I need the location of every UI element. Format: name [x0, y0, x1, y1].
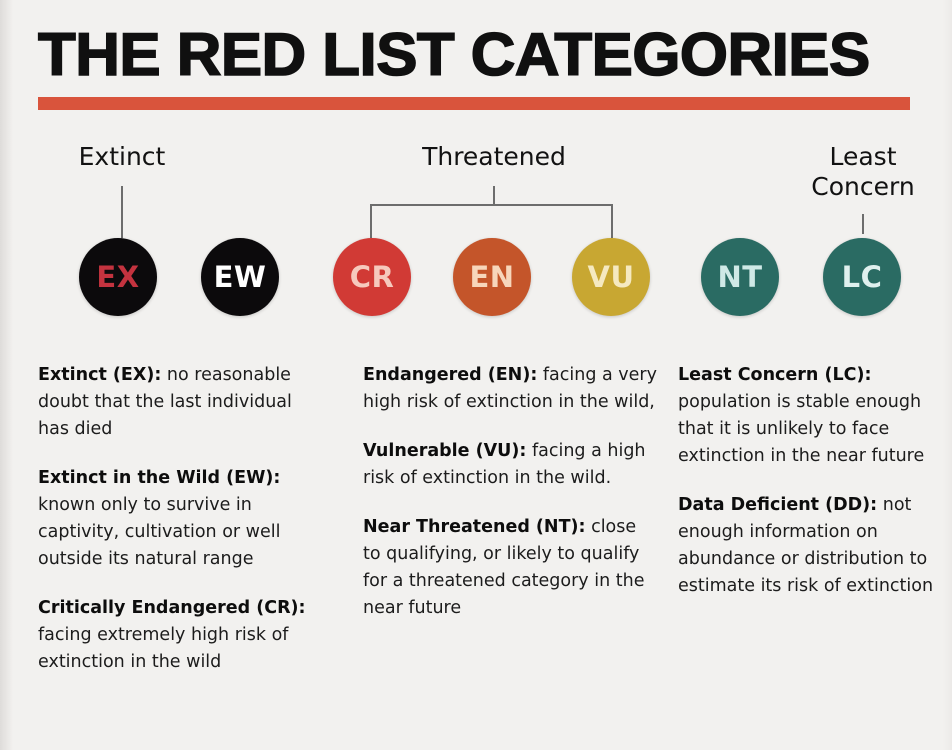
badge-ex-label: EX [96, 260, 139, 294]
badge-en-label: EN [469, 260, 514, 294]
connector-least-concern-stem [862, 214, 864, 234]
connector-threatened-left-drop [370, 204, 372, 238]
group-label-threatened: Threatened [394, 142, 594, 172]
page-title: THE RED LIST CATEGORIES [38, 24, 944, 86]
group-label-least-concern: Least Concern [783, 142, 943, 202]
definition-near-threatened: Near Threatened (NT): close to qualifyin… [363, 514, 658, 622]
definitions-column-3: Least Concern (LC): population is stable… [678, 344, 940, 600]
definition-data-deficient: Data Deficient (DD): not enough informat… [678, 492, 940, 600]
title-underline-rule [38, 97, 910, 110]
connector-extinct-stem [121, 186, 123, 238]
connector-threatened-stem [493, 186, 495, 206]
connector-threatened-bracket [370, 204, 613, 206]
group-label-extinct: Extinct [42, 142, 202, 172]
badge-nt-label: NT [717, 260, 762, 294]
definition-text: population is stable enough that it is u… [678, 392, 924, 466]
badge-lc-label: LC [842, 260, 883, 294]
definition-term: Near Threatened (NT): [363, 517, 586, 537]
group-label-least-concern-line1: Least [783, 142, 943, 172]
badge-en[interactable]: EN [453, 238, 531, 316]
badge-lc[interactable]: LC [823, 238, 901, 316]
definition-term: Endangered (EN): [363, 365, 537, 385]
badge-cr-label: CR [350, 260, 395, 294]
definition-extinct-in-the-wild: Extinct in the Wild (EW): known only to … [38, 465, 323, 573]
red-list-infographic: THE RED LIST CATEGORIES Extinct Threaten… [0, 0, 952, 750]
badge-nt[interactable]: NT [701, 238, 779, 316]
definition-critically-endangered: Critically Endangered (CR): facing extre… [38, 595, 323, 676]
badge-ew[interactable]: EW [201, 238, 279, 316]
definition-endangered: Endangered (EN): facing a very high risk… [363, 362, 658, 416]
badge-ex[interactable]: EX [79, 238, 157, 316]
definition-extinct: Extinct (EX): no reasonable doubt that t… [38, 362, 323, 443]
definition-term: Vulnerable (VU): [363, 441, 526, 461]
badge-ew-label: EW [214, 260, 267, 294]
definition-term: Extinct in the Wild (EW): [38, 468, 280, 488]
badge-vu-label: VU [588, 260, 635, 294]
definition-text: known only to survive in captivity, cult… [38, 495, 280, 569]
definitions-column-1: Extinct (EX): no reasonable doubt that t… [38, 344, 323, 676]
badge-vu[interactable]: VU [572, 238, 650, 316]
definitions-column-2: Endangered (EN): facing a very high risk… [363, 344, 658, 622]
definition-term: Critically Endangered (CR): [38, 598, 306, 618]
definition-term: Data Deficient (DD): [678, 495, 877, 515]
definition-vulnerable: Vulnerable (VU): facing a high risk of e… [363, 438, 658, 492]
definition-term: Least Concern (LC): [678, 365, 871, 385]
group-label-least-concern-line2: Concern [783, 172, 943, 202]
connector-threatened-right-drop [611, 204, 613, 238]
badge-cr[interactable]: CR [333, 238, 411, 316]
definition-least-concern: Least Concern (LC): population is stable… [678, 362, 940, 470]
definition-text: facing extremely high risk of extinction… [38, 625, 288, 672]
definition-term: Extinct (EX): [38, 365, 161, 385]
